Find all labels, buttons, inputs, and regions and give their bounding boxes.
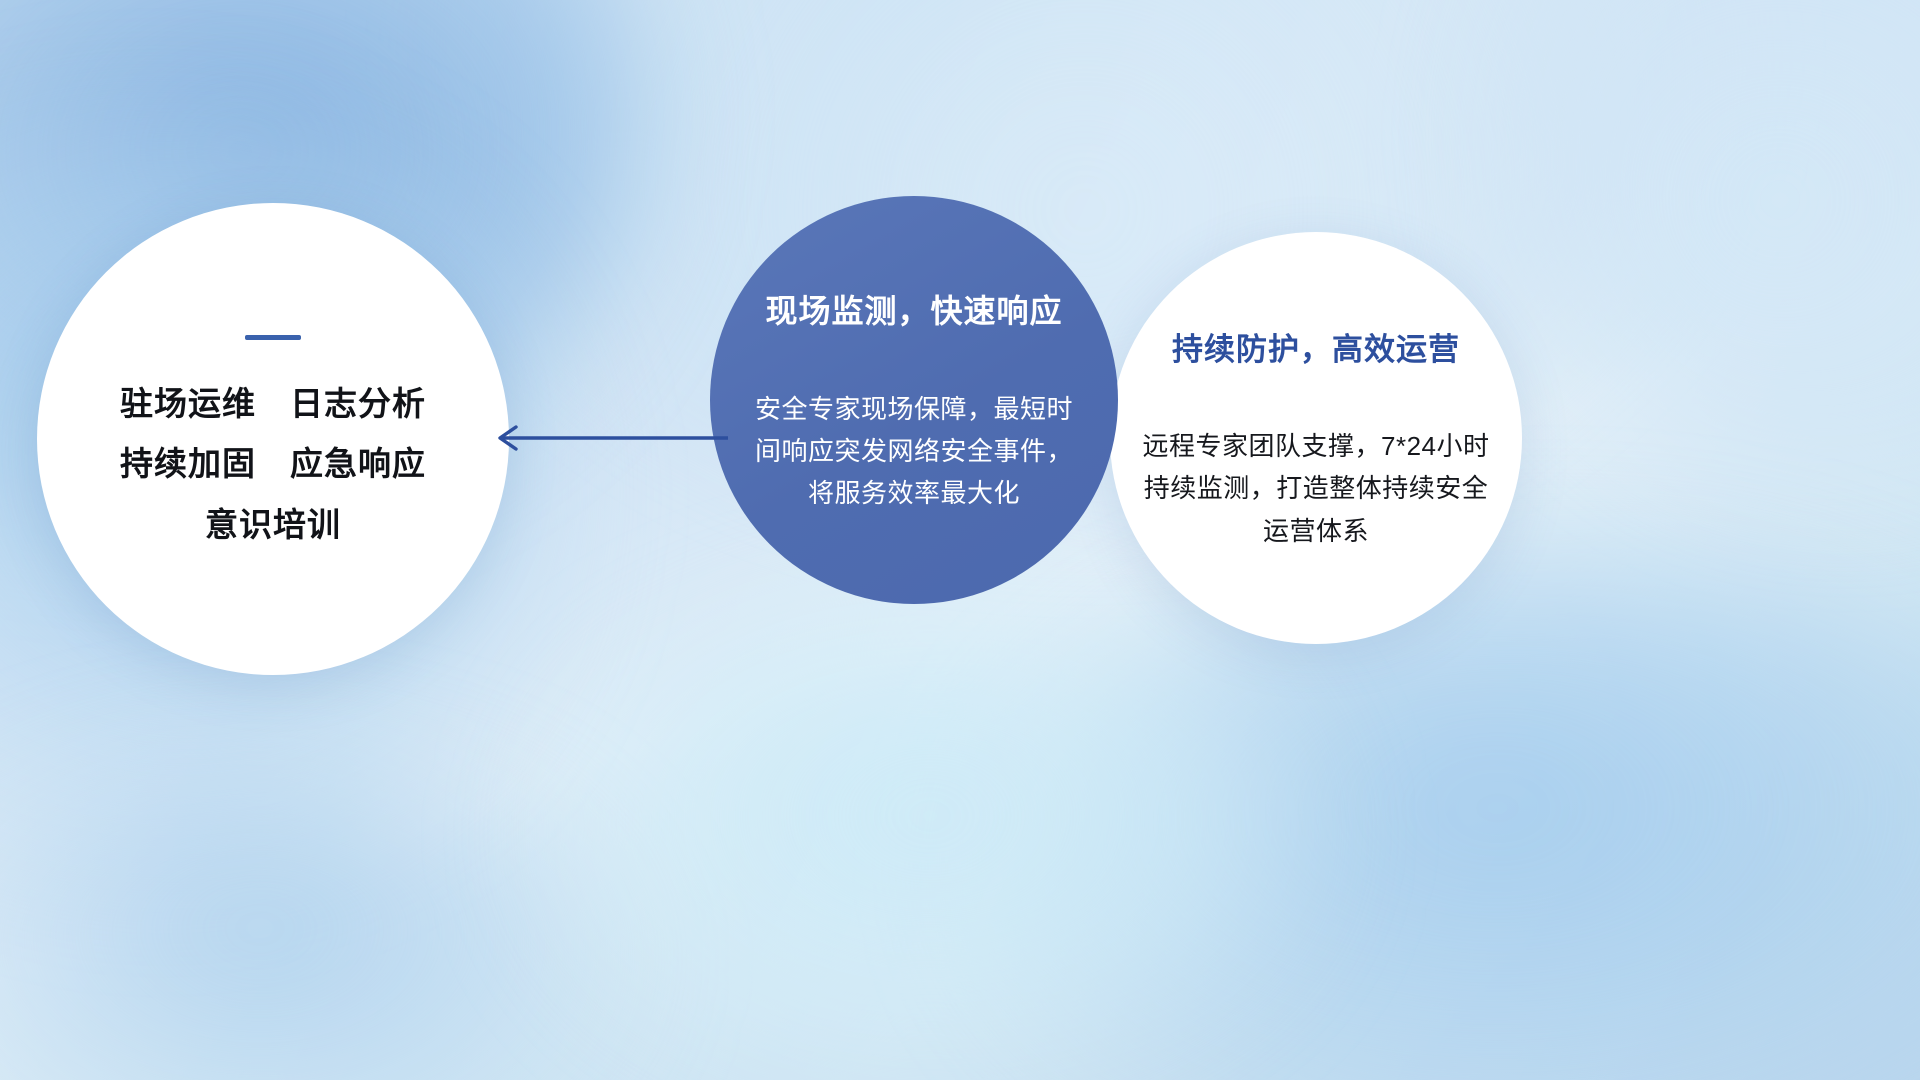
left-arrow-icon (480, 408, 730, 468)
capability-keyword-list: 驻场运维 日志分析 持续加固 应急响应 意识培训 (120, 386, 426, 543)
right-operations-circle: 持续防护，高效运营 远程专家团队支撑，7*24小时持续监测，打造整体持续安全运营… (1110, 232, 1522, 644)
title-divider-dash (245, 335, 301, 340)
middle-monitoring-circle: 现场监测，快速响应 安全专家现场保障，最短时间响应突发网络安全事件，将服务效率最… (710, 196, 1118, 604)
capability-row-2: 持续加固 应急响应 (120, 446, 426, 482)
background-blob-lower-right (980, 560, 1920, 1080)
background-blob-lower-left (0, 760, 640, 1080)
capability-keyword: 日志分析 (290, 386, 426, 422)
capability-keyword: 驻场运维 (120, 386, 256, 422)
background-blob-bottom-center (540, 600, 1320, 1080)
background-blob-top-right (1500, 0, 1920, 480)
capability-keyword: 意识培训 (205, 507, 341, 543)
capability-keyword: 持续加固 (120, 446, 256, 482)
capability-keyword: 应急响应 (290, 446, 426, 482)
slide-canvas: 驻场运维 日志分析 持续加固 应急响应 意识培训 持续防护，高效运营 远程专家团… (0, 0, 1920, 1080)
flow-arrow (480, 408, 730, 468)
left-capability-circle: 驻场运维 日志分析 持续加固 应急响应 意识培训 (37, 203, 509, 675)
right-circle-title: 持续防护，高效运营 (1172, 324, 1460, 369)
middle-circle-body: 安全专家现场保障，最短时间响应突发网络安全事件，将服务效率最大化 (754, 388, 1074, 514)
capability-row-3: 意识培训 (205, 507, 341, 543)
capability-row-1: 驻场运维 日志分析 (120, 386, 426, 422)
middle-circle-title: 现场监测，快速响应 (765, 286, 1062, 332)
right-circle-body: 远程专家团队支撑，7*24小时持续监测，打造整体持续安全运营体系 (1138, 425, 1494, 551)
